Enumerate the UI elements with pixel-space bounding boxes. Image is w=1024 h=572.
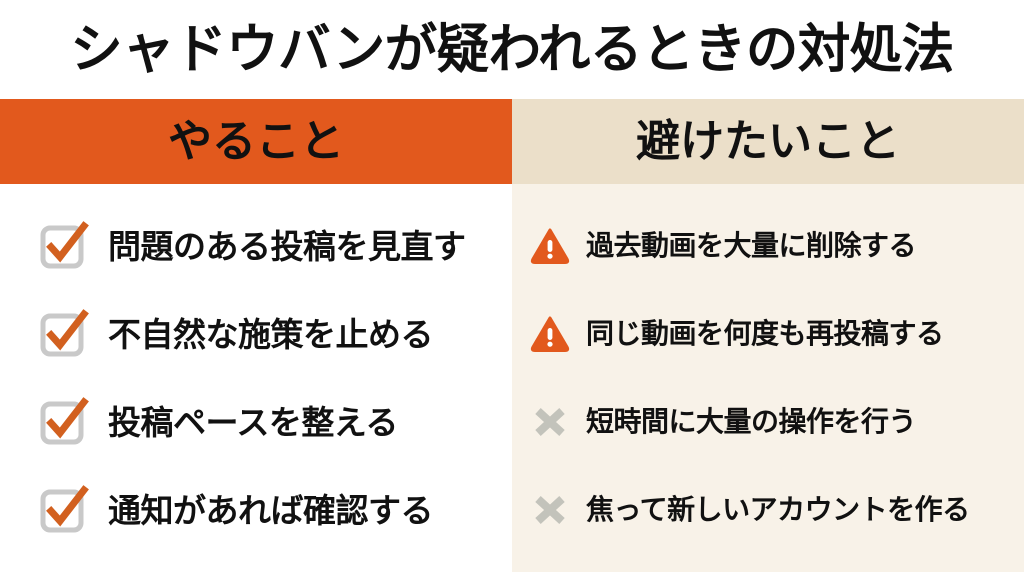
infographic-slide: シャドウバンが疑われるときの対処法 やること 避けたいこと 問題のある投稿を見直… bbox=[0, 0, 1024, 572]
list-item: 問題のある投稿を見直す bbox=[40, 202, 512, 290]
cross-mark-icon bbox=[530, 402, 570, 442]
checkbox-checked-icon bbox=[40, 487, 86, 533]
warning-triangle-icon bbox=[530, 226, 570, 266]
list-item-label: 不自然な施策を止める bbox=[108, 318, 433, 351]
list-item-label: 通知があれば確認する bbox=[108, 494, 433, 527]
warning-triangle-icon bbox=[530, 314, 570, 354]
avoid-column: 過去動画を大量に削除する 同じ動画を何度も再投稿する 短時間に大量の操作を行う bbox=[512, 184, 1024, 572]
list-item-label: 短時間に大量の操作を行う bbox=[586, 408, 916, 436]
list-item: 不自然な施策を止める bbox=[40, 290, 512, 378]
checkbox-checked-icon bbox=[40, 311, 86, 357]
list-item: 通知があれば確認する bbox=[40, 466, 512, 554]
list-item-label: 問題のある投稿を見直す bbox=[108, 230, 466, 263]
do-column: 問題のある投稿を見直す 不自然な施策を止める 投稿ペースを整える bbox=[0, 184, 512, 572]
checkbox-checked-icon bbox=[40, 399, 86, 445]
page-title: シャドウバンが疑われるときの対処法 bbox=[5, 0, 1019, 99]
cross-mark-icon bbox=[530, 490, 570, 530]
list-item: 焦って新しいアカウントを作る bbox=[530, 466, 1024, 554]
list-item: 同じ動画を何度も再投稿する bbox=[530, 290, 1024, 378]
list-item: 短時間に大量の操作を行う bbox=[530, 378, 1024, 466]
checkbox-checked-icon bbox=[40, 223, 86, 269]
list-item-label: 同じ動画を何度も再投稿する bbox=[586, 320, 944, 348]
list-item: 過去動画を大量に削除する bbox=[530, 202, 1024, 290]
list-item-label: 過去動画を大量に削除する bbox=[586, 232, 916, 260]
do-column-header: やること bbox=[0, 99, 512, 184]
list-item-label: 投稿ペースを整える bbox=[108, 406, 398, 439]
list-item: 投稿ペースを整える bbox=[40, 378, 512, 466]
avoid-column-header: 避けたいこと bbox=[512, 99, 1024, 184]
list-item-label: 焦って新しいアカウントを作る bbox=[586, 496, 970, 524]
